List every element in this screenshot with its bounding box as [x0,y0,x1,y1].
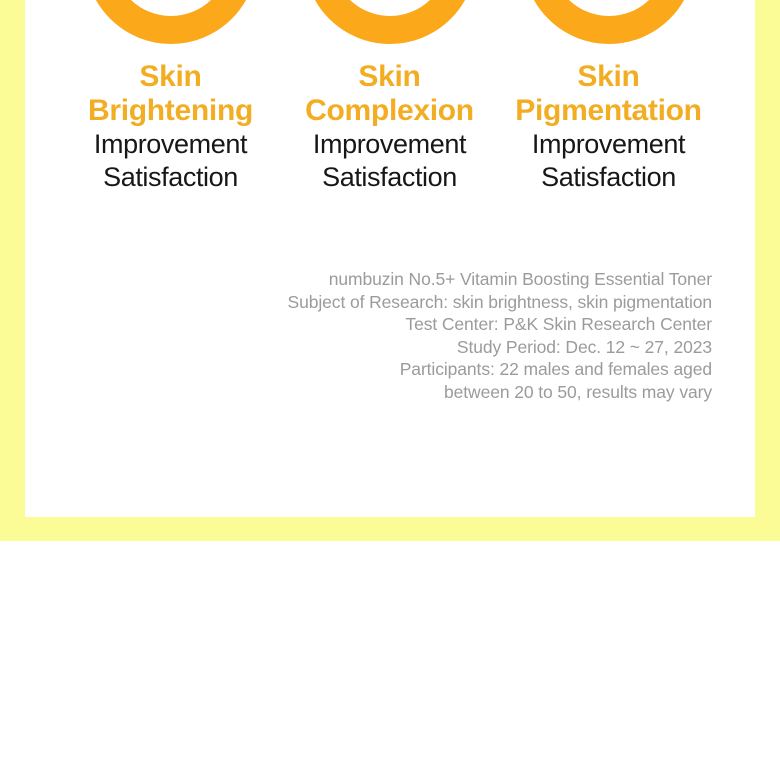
donut-ring-skin-complexion [318,0,462,30]
donut-ring-skin-brightening [99,0,243,30]
stat-title-skin-brightening: Skin Brightening [61,60,280,128]
study-info-line-participants: Participants: 22 males and females aged [25,358,712,381]
study-info-line-subject: Subject of Research: skin brightness, sk… [25,291,712,314]
study-info-line-test-center: Test Center: P&K Skin Research Center [25,313,712,336]
stat-sub-line2: Satisfaction [280,161,499,194]
stat-title-line2: Pigmentation [499,94,718,128]
stat-title-line1: Skin [61,60,280,94]
stat-title-line1: Skin [280,60,499,94]
stat-title-line2: Brightening [61,94,280,128]
stat-column-skin-brightening: Skin Brightening Improvement Satisfactio… [61,60,280,194]
stat-title-line1: Skin [499,60,718,94]
white-card: Skin Brightening Improvement Satisfactio… [25,0,755,517]
donut-ring-skin-pigmentation [537,0,681,30]
stat-title-line2: Complexion [280,94,499,128]
study-info-block: numbuzin No.5+ Vitamin Boosting Essentia… [25,268,712,404]
stat-columns: Skin Brightening Improvement Satisfactio… [25,60,755,194]
stat-sub-line2: Satisfaction [499,161,718,194]
stat-sub-line2: Satisfaction [61,161,280,194]
stat-subtitle-skin-brightening: Improvement Satisfaction [61,128,280,194]
stat-title-skin-pigmentation: Skin Pigmentation [499,60,718,128]
product-claims-infographic: Skin Brightening Improvement Satisfactio… [0,0,780,780]
stat-column-skin-complexion: Skin Complexion Improvement Satisfaction [280,60,499,194]
stat-subtitle-skin-pigmentation: Improvement Satisfaction [499,128,718,194]
stat-sub-line1: Improvement [280,128,499,161]
stat-column-skin-pigmentation: Skin Pigmentation Improvement Satisfacti… [499,60,718,194]
stat-title-skin-complexion: Skin Complexion [280,60,499,128]
stat-sub-line1: Improvement [499,128,718,161]
yellow-frame: Skin Brightening Improvement Satisfactio… [0,0,780,541]
stat-subtitle-skin-complexion: Improvement Satisfaction [280,128,499,194]
study-info-line-product: numbuzin No.5+ Vitamin Boosting Essentia… [25,268,712,291]
study-info-line-study-period: Study Period: Dec. 12 ~ 27, 2023 [25,336,712,359]
study-info-line-disclaimer: between 20 to 50, results may vary [25,381,712,404]
stat-sub-line1: Improvement [61,128,280,161]
